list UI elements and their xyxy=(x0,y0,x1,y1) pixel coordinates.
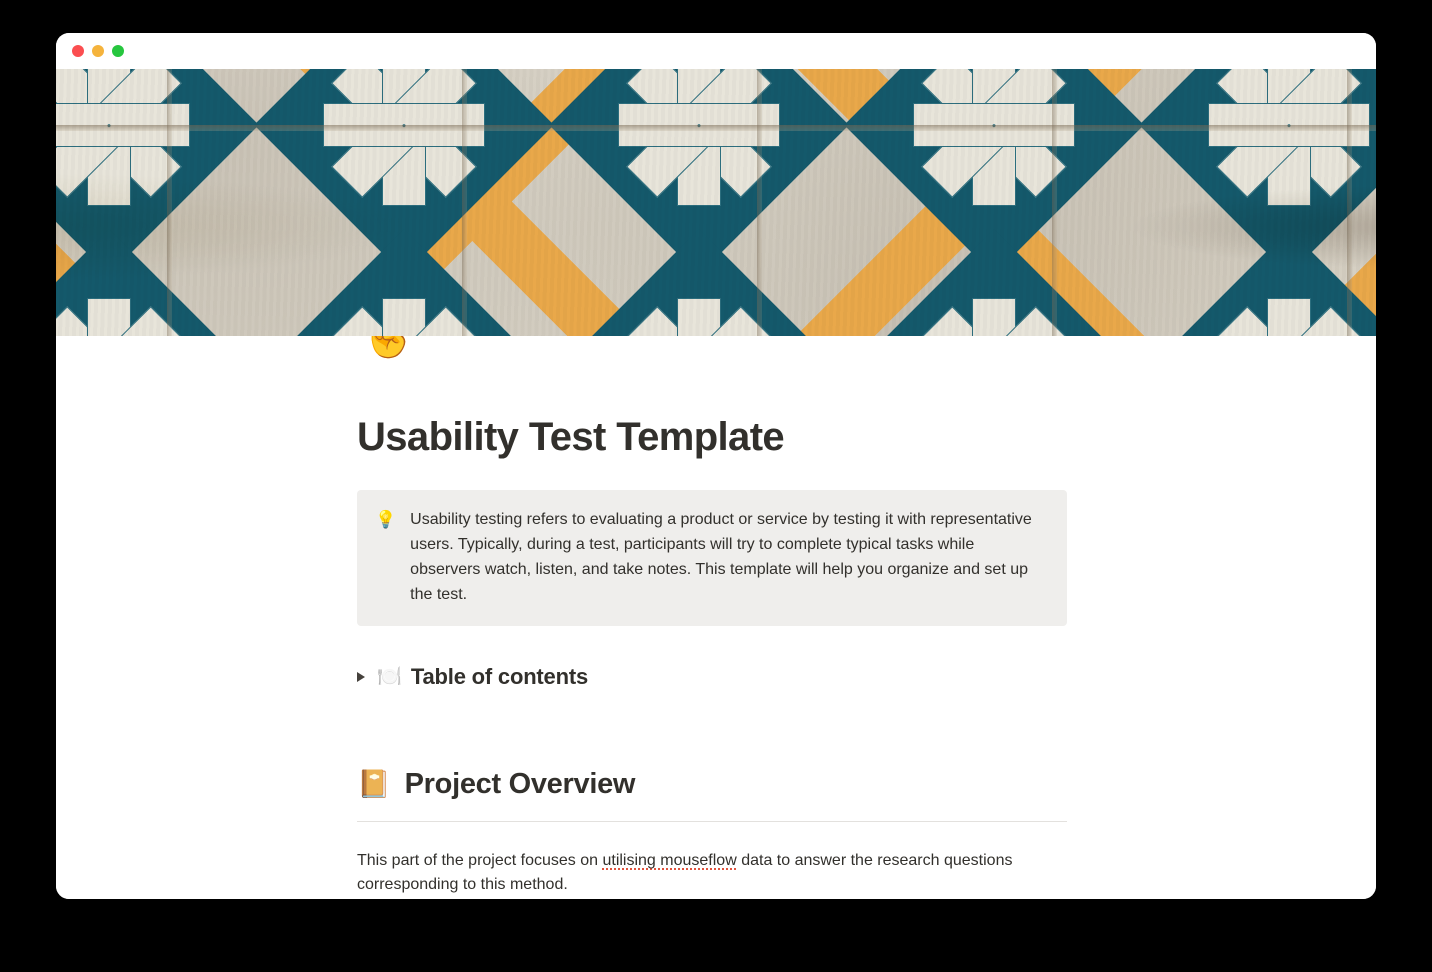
paragraph-misspelled-text: utilising mouseflow xyxy=(602,852,736,869)
tile-weathering-overlay xyxy=(56,69,1376,336)
document-page: ✌️ Usability Test Template 💡 Usability t… xyxy=(56,336,1376,899)
page-icon-emoji[interactable]: ✌️ xyxy=(358,336,420,356)
callout-block[interactable]: 💡 Usability testing refers to evaluating… xyxy=(357,490,1067,626)
lightbulb-icon: 💡 xyxy=(375,507,396,607)
close-window-button[interactable] xyxy=(72,45,84,57)
section-heading-project-overview[interactable]: 📔 Project Overview xyxy=(357,768,1067,801)
toggle-table-of-contents[interactable]: 🍽️ Table of contents xyxy=(357,664,1067,690)
paragraph-text-before: This part of the project focuses on xyxy=(357,852,602,869)
section-paragraph[interactable]: This part of the project focuses on util… xyxy=(357,849,1067,897)
plate-cutlery-icon: 🍽️ xyxy=(377,667,402,687)
notebook-icon: 📔 xyxy=(357,771,391,798)
document-content: Usability Test Template 💡 Usability test… xyxy=(357,414,1067,899)
window-titlebar xyxy=(56,33,1376,69)
section-heading-text: Project Overview xyxy=(405,768,636,801)
maximize-window-button[interactable] xyxy=(112,45,124,57)
toggle-label: Table of contents xyxy=(411,664,588,690)
tile-pattern xyxy=(56,69,1376,336)
browser-window: ✌️ Usability Test Template 💡 Usability t… xyxy=(56,33,1376,899)
chevron-right-icon[interactable] xyxy=(357,672,365,682)
page-cover-image[interactable] xyxy=(56,69,1376,336)
callout-text: Usability testing refers to evaluating a… xyxy=(410,507,1045,607)
screenshot-root: ✌️ Usability Test Template 💡 Usability t… xyxy=(0,0,1432,972)
section-divider xyxy=(357,821,1067,822)
minimize-window-button[interactable] xyxy=(92,45,104,57)
page-title[interactable]: Usability Test Template xyxy=(357,414,1067,460)
